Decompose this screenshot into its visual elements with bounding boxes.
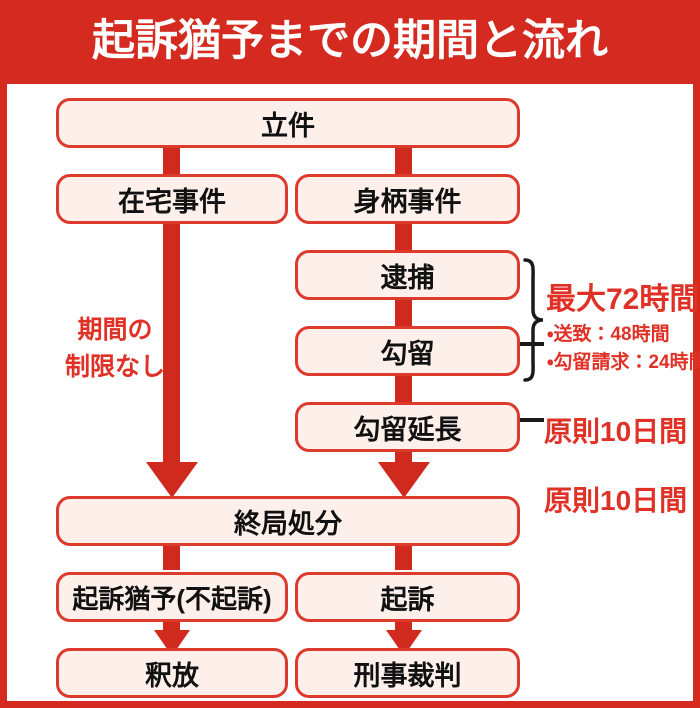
node-start-label: 立件	[261, 104, 315, 143]
node-arrest-label: 逮捕	[381, 256, 435, 295]
page-title: 起訴猶予までの期間と流れ	[0, 12, 700, 70]
annotation-detention-period: 原則10日間	[544, 414, 687, 450]
node-criminal-trial-label: 刑事裁判	[354, 654, 462, 693]
connector-final-to-suspended	[163, 544, 180, 570]
node-detention[interactable]: 勾留	[295, 326, 520, 376]
node-detention-extension-label: 勾留延長	[354, 408, 462, 447]
node-release[interactable]: 釈放	[56, 648, 288, 698]
annotation-no-time-limit: 期間の 制限なし	[55, 312, 175, 386]
node-suspended-prosecution-label: 起訴猶予(不起訴)	[72, 579, 271, 616]
node-release-label: 釈放	[145, 654, 199, 693]
node-criminal-trial[interactable]: 刑事裁判	[295, 648, 520, 698]
node-home-case-label: 在宅事件	[118, 180, 226, 219]
node-indictment-label: 起訴	[381, 578, 435, 617]
annotation-max-72-hours: 最大72時間	[546, 282, 699, 318]
connector-final-to-indictment	[395, 544, 412, 570]
node-arrest[interactable]: 逮捕	[295, 250, 520, 300]
node-suspended-prosecution[interactable]: 起訴猶予(不起訴)	[56, 572, 288, 622]
node-final-disposition-label: 終局処分	[234, 502, 342, 541]
curly-brace-icon	[519, 258, 549, 382]
node-final-disposition[interactable]: 終局処分	[56, 496, 520, 546]
node-home-case[interactable]: 在宅事件	[56, 174, 288, 224]
node-detention-label: 勾留	[381, 332, 435, 371]
annotation-no-time-limit-line2: 制限なし	[55, 349, 175, 386]
annotation-transfer-48-hours: ・送致：48時間	[547, 322, 670, 348]
em-dash-connector-icon-extension	[520, 418, 544, 422]
node-indictment[interactable]: 起訴	[295, 572, 520, 622]
annotation-detention-request-24-hours: ・勾留請求：24時間	[547, 350, 700, 376]
node-detention-extension[interactable]: 勾留延長	[295, 402, 520, 452]
title-band: 起訴猶予までの期間と流れ	[0, 0, 700, 84]
em-dash-connector-icon-detention	[520, 342, 544, 346]
node-custody-case[interactable]: 身柄事件	[295, 174, 520, 224]
down-arrow-icon-extension-to-final	[378, 462, 430, 498]
down-arrow-icon-home-case-to-final	[146, 462, 198, 498]
node-start[interactable]: 立件	[56, 98, 520, 148]
flowchart-canvas: 立件 在宅事件 身柄事件 逮捕 勾留 勾留延長 終局処分 起訴猶予(不起訴) 起…	[7, 84, 693, 701]
annotation-detention-extension-period: 原則10日間	[544, 483, 687, 519]
infographic-root: 起訴猶予までの期間と流れ 立件	[0, 0, 700, 708]
node-custody-case-label: 身柄事件	[354, 180, 462, 219]
annotation-no-time-limit-line1: 期間の	[55, 312, 175, 349]
